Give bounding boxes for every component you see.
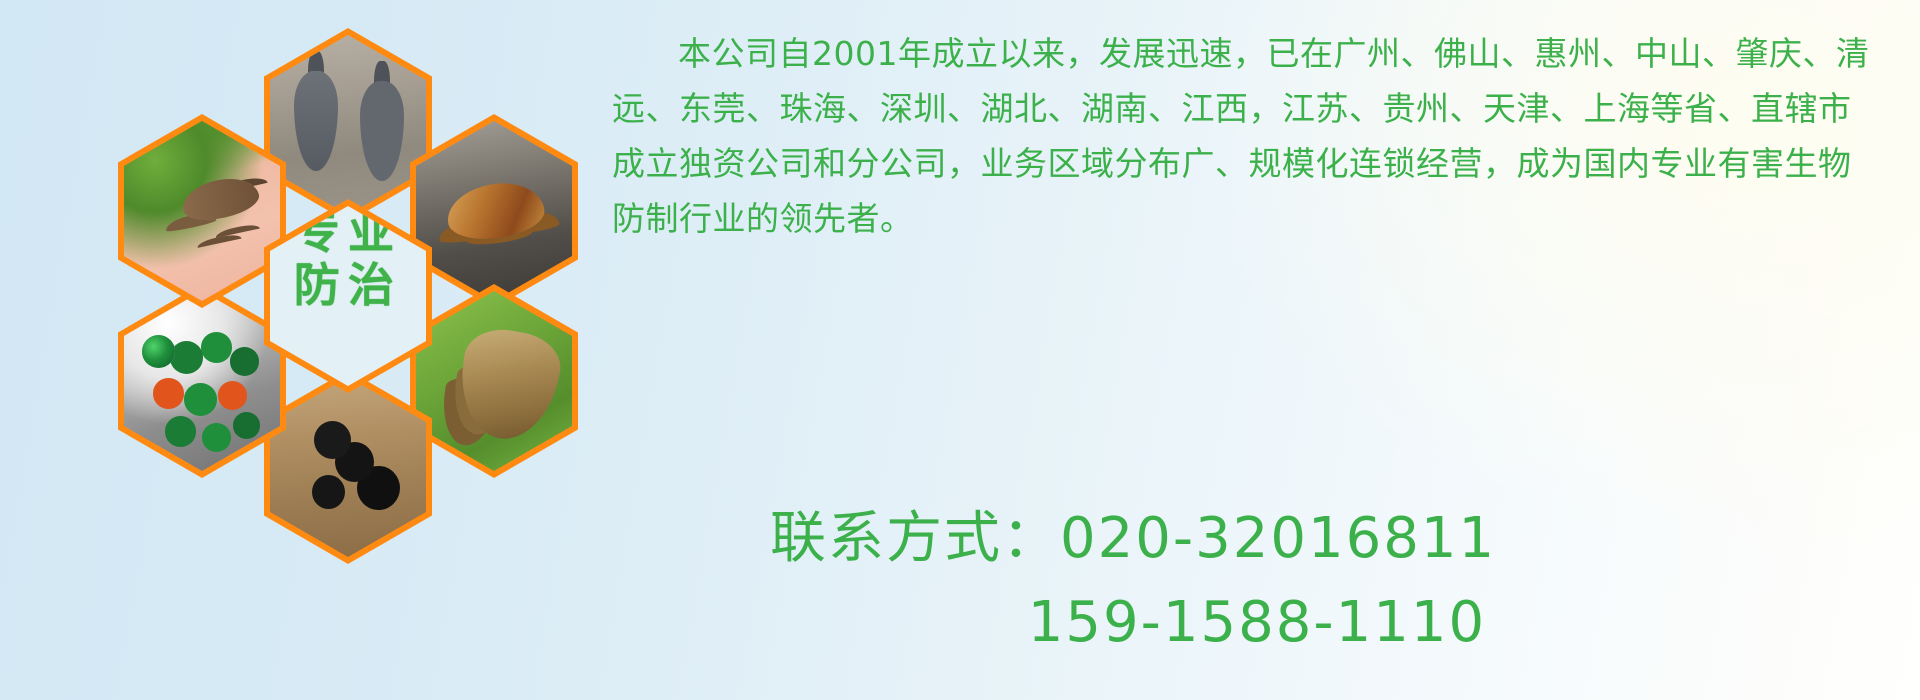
ant-photo-icon [270, 377, 426, 557]
hex-cell-flies [118, 284, 286, 478]
hex-cell-rat-image [270, 35, 426, 215]
hex-cell-cockroach-image [416, 121, 572, 301]
rat-photo-icon [270, 35, 426, 215]
contact-phone-secondary[interactable]: 159-1588-1110 [770, 581, 1496, 665]
mosquito-photo-icon [124, 121, 280, 301]
slogan-line-1: 专业 [270, 206, 426, 259]
cockroach-photo-icon [416, 121, 572, 301]
company-intro-banner: 专业 防治 本公司自2001年成立以来，发展迅速，已在广州、佛山、惠州、中山、肇… [0, 0, 1920, 700]
slogan-text: 专业 防治 [270, 206, 426, 312]
hex-cell-slogan-surface: 专业 防治 [270, 206, 426, 386]
contact-label: 联系方式： [770, 506, 1060, 571]
hex-cell-slogan: 专业 防治 [264, 199, 432, 393]
hex-cell-cockroach [410, 114, 578, 308]
intro-copy-column: 本公司自2001年成立以来，发展迅速，已在广州、佛山、惠州、中山、肇庆、清远、东… [612, 26, 1882, 246]
honeycomb-image-cluster: 专业 防治 [88, 0, 608, 596]
hex-cell-ant [264, 370, 432, 564]
hex-cell-ant-image [270, 377, 426, 557]
hex-cell-flies-image [124, 291, 280, 471]
intro-paragraph: 本公司自2001年成立以来，发展迅速，已在广州、佛山、惠州、中山、肇庆、清远、东… [612, 26, 1882, 246]
hex-cell-stinkbug-image [416, 291, 572, 471]
flies-photo-icon [124, 291, 280, 471]
hex-cell-mosquito-image [124, 121, 280, 301]
hex-cell-mosquito [118, 114, 286, 308]
hex-cell-rat [264, 28, 432, 222]
contact-block: 联系方式：020-32016811 159-1588-1110 [770, 497, 1496, 665]
slogan-line-2: 防治 [270, 259, 426, 312]
contact-phone-primary[interactable]: 020-32016811 [1060, 506, 1496, 571]
hex-cell-stinkbug [410, 284, 578, 478]
stinkbug-photo-icon [416, 291, 572, 471]
